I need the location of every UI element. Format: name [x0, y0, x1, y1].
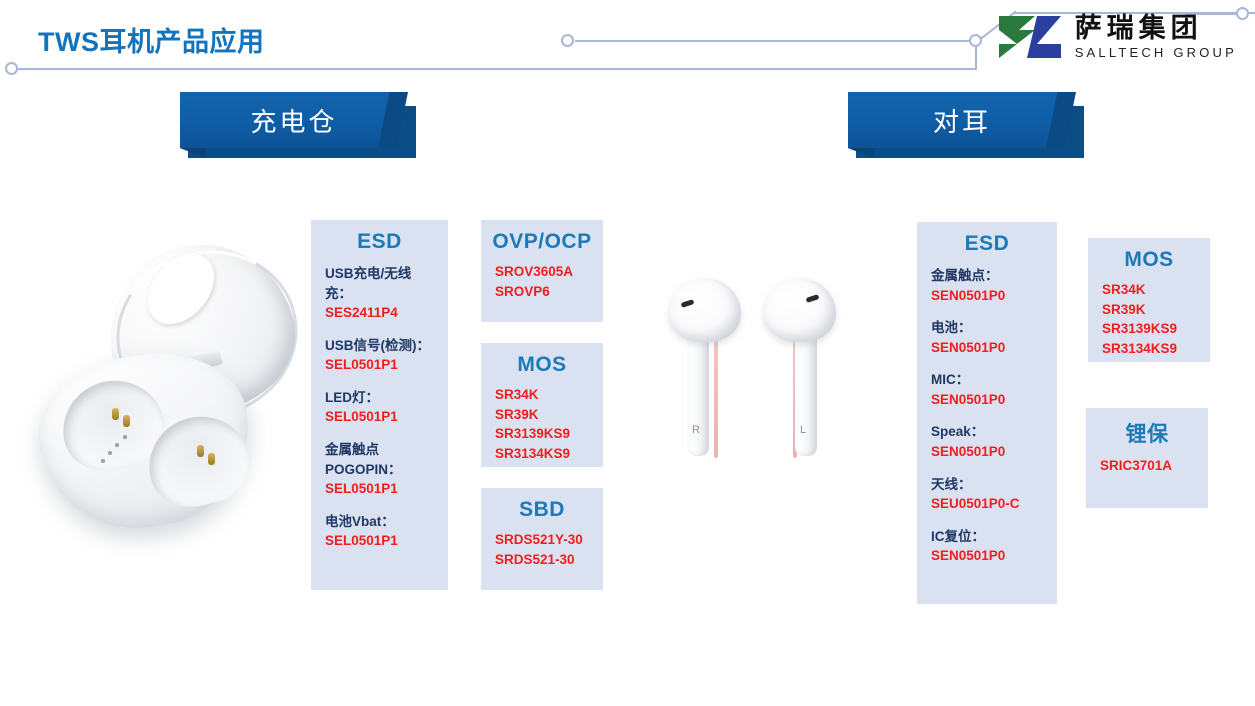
- panel-case-mos: MOS SR34K SR39K SR3139KS9 SR3134KS9: [481, 343, 603, 467]
- earbud-stem: [795, 328, 817, 456]
- led-indicator: [101, 459, 105, 463]
- spec-label: MIC：: [931, 370, 1043, 390]
- pogo-pin: [112, 408, 119, 420]
- charging-case-image: [30, 245, 295, 545]
- spec-entry: IC复位： SEN0501P0: [931, 527, 1043, 566]
- spec-part-number: SROVP6: [495, 282, 589, 302]
- panel-case-sbd: SBD SRDS521Y-30 SRDS521-30: [481, 488, 603, 590]
- deco-dot-right: [1236, 7, 1249, 20]
- salltech-logo-icon: [997, 14, 1063, 60]
- led-indicator: [123, 435, 127, 439]
- spec-part-number: SEU0501P0-C: [931, 494, 1043, 514]
- panel-title: MOS: [481, 353, 603, 377]
- spec-entry: 电池Vbat： SEL0501P1: [325, 512, 434, 551]
- panel-title: MOS: [1088, 248, 1210, 272]
- banner-earbuds: 对耳: [848, 92, 1076, 164]
- spec-label: IC复位：: [931, 527, 1043, 547]
- spec-entry: 金属触点： SEN0501P0: [931, 266, 1043, 305]
- spec-part-number: SRDS521-30: [495, 550, 589, 570]
- spec-part-number: SEN0501P0: [931, 338, 1043, 358]
- earbud-head: [764, 278, 836, 342]
- spec-part-number: SR3139KS9: [495, 424, 589, 444]
- spec-label: 天线：: [931, 475, 1043, 495]
- panel-title: SBD: [481, 498, 603, 522]
- spec-label: LED灯：: [325, 388, 434, 408]
- panel-body: SRIC3701A: [1086, 456, 1208, 476]
- deco-line-vertical: [975, 40, 977, 70]
- spec-part-number: SEN0501P0: [931, 442, 1043, 462]
- panel-body: 金属触点： SEN0501P0 电池： SEN0501P0 MIC： SEN05…: [917, 266, 1057, 566]
- led-indicator: [115, 443, 119, 447]
- spec-part-number: SEN0501P0: [931, 546, 1043, 566]
- earbud-left-unit: L: [760, 272, 840, 462]
- earbud-side-letter: R: [692, 424, 700, 436]
- spec-entry: USB信号(检测)： SEL0501P1: [325, 336, 434, 375]
- panel-case-esd: ESD USB充电/无线充： SES2411P4 USB信号(检测)： SEL0…: [311, 220, 448, 590]
- panel-case-ovp-ocp: OVP/OCP SROV3605A SROVP6: [481, 220, 603, 322]
- spec-label: 电池：: [931, 318, 1043, 338]
- spec-entry: MIC： SEN0501P0: [931, 370, 1043, 409]
- spec-entry: Speak： SEN0501P0: [931, 422, 1043, 461]
- spec-label: USB信号(检测)：: [325, 336, 434, 356]
- spec-label: USB充电/无线充：: [325, 264, 434, 303]
- deco-line-long-lower: [12, 68, 977, 70]
- panel-bud-battery-protection: 锂保 SRIC3701A: [1086, 408, 1208, 508]
- panel-body: SRDS521Y-30 SRDS521-30: [481, 530, 603, 569]
- spec-part-number: SEL0501P1: [325, 355, 434, 375]
- earbud-stem: [687, 328, 709, 456]
- spec-label: Speak：: [931, 422, 1043, 442]
- deco-dot-mid: [561, 34, 574, 47]
- spec-part-number: SEN0501P0: [931, 390, 1043, 410]
- spec-part-number: SEL0501P1: [325, 531, 434, 551]
- spec-label: 金属触点 POGOPIN：: [325, 440, 434, 479]
- spec-part-number: SR34K: [1102, 280, 1196, 300]
- pogo-pin: [197, 445, 204, 457]
- logo-company-en: SALLTECH GROUP: [1075, 46, 1237, 59]
- panel-body: SR34K SR39K SR3139KS9 SR3134KS9: [481, 385, 603, 463]
- pogo-pin: [208, 453, 215, 465]
- banner-label: 对耳: [933, 102, 991, 139]
- brand-logo: 萨瑞集团 SALLTECH GROUP: [997, 14, 1237, 60]
- spec-part-number: SEL0501P1: [325, 407, 434, 427]
- panel-bud-mos: MOS SR34K SR39K SR3139KS9 SR3134KS9: [1088, 238, 1210, 362]
- deco-dot-left: [5, 62, 18, 75]
- spec-part-number: SEL0501P1: [325, 479, 434, 499]
- page-title: TWS耳机产品应用: [38, 20, 265, 59]
- spec-entry: 天线： SEU0501P0-C: [931, 475, 1043, 514]
- spec-label: 金属触点：: [931, 266, 1043, 286]
- spec-part-number: SROV3605A: [495, 262, 589, 282]
- slide-root: TWS耳机产品应用 萨瑞集团 SALLTECH GROUP 充电仓 对耳: [0, 0, 1255, 706]
- earbud-head: [669, 278, 741, 342]
- spec-entry: 金属触点 POGOPIN： SEL0501P1: [325, 440, 434, 499]
- spec-part-number: SRDS521Y-30: [495, 530, 589, 550]
- spec-part-number: SRIC3701A: [1100, 456, 1194, 476]
- panel-body: SROV3605A SROVP6: [481, 262, 603, 301]
- earbuds-image: R L: [665, 272, 865, 462]
- banner-charging-case: 充电仓: [180, 92, 408, 164]
- banner-label: 充电仓: [250, 102, 337, 139]
- deco-dot-junction: [969, 34, 982, 47]
- banner-face: 对耳: [848, 92, 1076, 148]
- logo-company-cn: 萨瑞集团: [1075, 15, 1237, 42]
- spec-part-number: SR3134KS9: [1102, 339, 1196, 359]
- led-indicator: [108, 451, 112, 455]
- spec-entry: USB充电/无线充： SES2411P4: [325, 264, 434, 323]
- panel-title: ESD: [311, 230, 448, 254]
- spec-entry: 电池： SEN0501P0: [931, 318, 1043, 357]
- earbud-side-letter: L: [800, 424, 806, 436]
- deco-line-mid-upper: [575, 40, 975, 42]
- panel-title: 锂保: [1086, 418, 1208, 448]
- spec-part-number: SES2411P4: [325, 303, 434, 323]
- panel-body: SR34K SR39K SR3139KS9 SR3134KS9: [1088, 280, 1210, 358]
- spec-part-number: SR3139KS9: [1102, 319, 1196, 339]
- logo-text-block: 萨瑞集团 SALLTECH GROUP: [1075, 15, 1237, 59]
- panel-bud-esd: ESD 金属触点： SEN0501P0 电池： SEN0501P0 MIC： S…: [917, 222, 1057, 604]
- spec-label: 电池Vbat：: [325, 512, 434, 532]
- earbud-right-unit: R: [665, 272, 745, 462]
- panel-title: ESD: [917, 232, 1057, 256]
- spec-part-number: SR34K: [495, 385, 589, 405]
- banner-face: 充电仓: [180, 92, 408, 148]
- pogo-pin: [123, 415, 130, 427]
- panel-body: USB充电/无线充： SES2411P4 USB信号(检测)： SEL0501P…: [311, 264, 448, 551]
- spec-entry: LED灯： SEL0501P1: [325, 388, 434, 427]
- panel-title: OVP/OCP: [481, 230, 603, 254]
- spec-part-number: SR3134KS9: [495, 444, 589, 464]
- spec-part-number: SR39K: [1102, 300, 1196, 320]
- spec-part-number: SEN0501P0: [931, 286, 1043, 306]
- spec-part-number: SR39K: [495, 405, 589, 425]
